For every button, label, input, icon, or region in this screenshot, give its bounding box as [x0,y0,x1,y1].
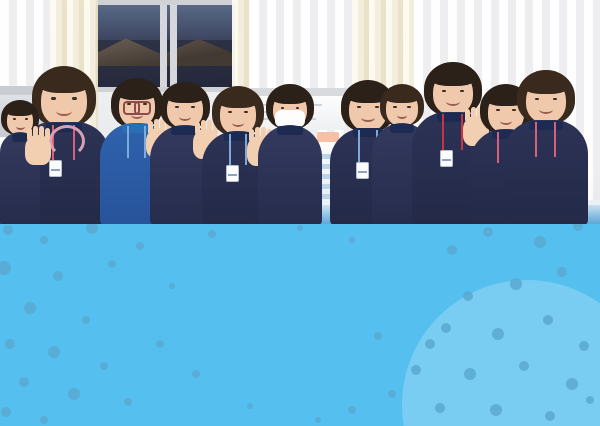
lanyard [127,126,129,159]
polka-dot [557,267,567,277]
polka-dot [19,377,29,387]
polka-dot [463,291,473,301]
polka-dot [388,390,396,398]
polka-dot [315,417,321,423]
polka-dot [208,230,216,238]
polka-dot [1,407,11,417]
staff-eye [535,98,540,100]
staff-group-photo [0,0,600,224]
polka-dot [483,227,493,237]
staff-member [0,100,40,224]
staff-member [504,70,588,224]
staff-fringe [5,103,35,116]
hand-finger [33,126,38,139]
polka-dot [545,411,555,421]
polka-dot [156,340,164,348]
polka-dot [247,403,253,409]
staff-smile [179,112,191,120]
polka-dot [349,237,355,243]
staff-eye [228,111,232,113]
id-badge [356,162,369,179]
polka-dot [425,339,435,349]
polka-dot [68,388,80,400]
scrub-collar [390,124,414,133]
lanyard [442,114,444,150]
staff-eye [25,118,28,120]
polka-dot [519,361,529,371]
lanyard [554,122,556,156]
polka-dot [492,328,504,340]
staff-fringe [523,75,569,94]
hand-finger [195,122,200,135]
polka-dot [510,278,522,290]
polka-dot [100,362,108,370]
polka-dot [586,396,594,404]
staff-eye [191,106,195,108]
hand-finger [27,128,32,141]
staff-scrubs [258,125,322,224]
polka-dot [441,323,451,333]
polka-dot [566,378,578,390]
polka-dot [348,406,356,414]
polka-dot [192,370,200,378]
polka-dot [579,341,589,351]
staff-fringe [430,67,476,86]
lanyard [535,122,537,156]
staff-smile [56,106,72,116]
polka-dot [82,316,90,324]
staff-eye [496,109,500,111]
staff-eye [553,98,558,100]
polka-dot [534,236,546,248]
lanyard [229,134,231,165]
staff-fringe [38,71,90,93]
polka-dot [86,224,98,234]
polka-dot [124,398,132,406]
polka-dot [0,261,11,275]
hand-finger [249,129,254,142]
staff-eye [460,90,465,92]
polka-dot [108,260,116,268]
staff-eye [393,106,397,108]
staff-eye [13,118,16,120]
polka-dot [48,346,60,358]
staff-member [258,84,322,224]
scrub-collar [277,126,303,135]
recruitment-banner: 医心館ってどんなところ？ 医心館は「ひとりにはしない」 入居者様にも、共に働くス… [0,0,600,426]
polka-dot [24,302,36,314]
staff-eye [281,107,285,109]
polka-dot [543,315,553,325]
staff-eye [72,97,77,99]
staff-fringe [271,88,309,104]
id-badge [226,165,239,182]
polka-dot [3,225,13,235]
hand-finger [45,128,50,141]
polka-dot [53,271,63,281]
polka-dot [40,236,48,244]
staff-eye [442,90,447,92]
polka-dot [297,225,303,231]
polka-dot [464,368,476,380]
eyeglasses [123,101,152,113]
polka-dot [435,403,445,413]
staff-fringe [165,86,205,103]
staff-smile [16,123,25,130]
polka-dot [490,404,502,416]
staff-eye [51,97,56,99]
id-badge [49,160,62,177]
staff-scrubs [504,120,588,224]
message-band: 医心館ってどんなところ？ 医心館は「ひとりにはしない」 入居者様にも、共に働くス… [0,224,600,426]
polka-dot-pattern [0,224,600,426]
staff-fringe [217,90,259,108]
hand-finger [39,126,44,139]
polka-dot [169,283,175,289]
staff-smile [232,118,245,127]
staff-eye [407,106,411,108]
polka-dot [573,224,583,231]
id-badge [440,150,453,167]
polka-dot [447,245,457,255]
polka-dot [40,416,48,424]
lanyard [358,130,360,162]
staff-eye [175,106,179,108]
polka-dot [411,365,421,375]
lanyard [497,132,499,163]
polka-dot [374,332,382,340]
polka-dot [136,242,144,250]
polka-dot [5,339,15,349]
